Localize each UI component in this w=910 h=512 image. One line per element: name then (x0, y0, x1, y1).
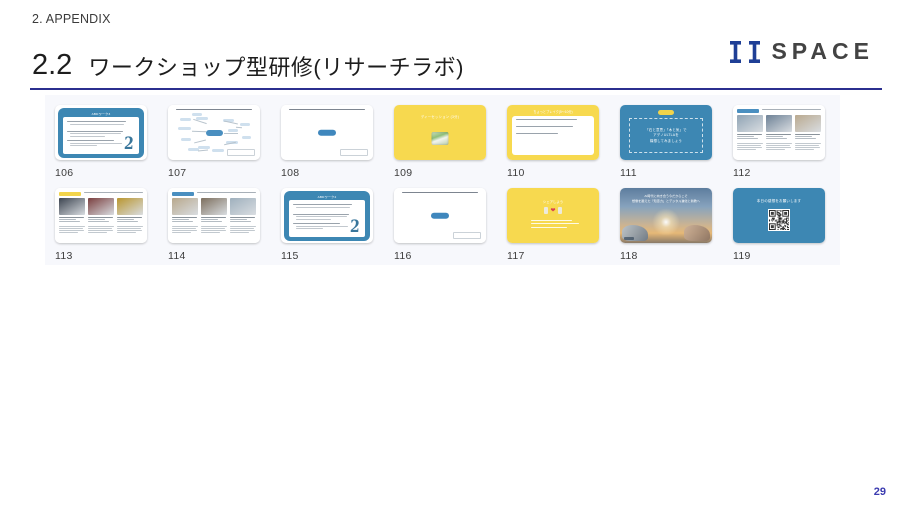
share-heart-icon: ❤ (544, 207, 562, 214)
thumbnail-cell-114[interactable]: 114 (168, 188, 260, 262)
thumbnail-cell-111[interactable]: 「石と意思」「木と気」でアデノULTLAを構想してみましょう111 (620, 105, 712, 179)
thumbnail-number: 116 (394, 250, 486, 262)
slide-thumbnail-107[interactable] (168, 105, 260, 160)
section-number: 2.2 (32, 51, 72, 80)
thumbnail-number: 118 (620, 250, 712, 262)
slide-thumbnail-119[interactable]: 本日の感想をお願いします (733, 188, 825, 243)
column-photo (766, 115, 792, 132)
mindmap-node (242, 136, 251, 139)
column-body (117, 226, 143, 235)
thumb-abd-worksheet: ABDワーク22 (281, 188, 373, 243)
thumbnail-cell-119[interactable]: 本日の感想をお願いします119 (733, 188, 825, 262)
thumbnail-grid: ABDワーク32106107108ディーセッション (3分)109ちょっとブレイ… (45, 95, 840, 265)
section-subtitle (197, 192, 256, 193)
slide-thumbnail-116[interactable] (394, 188, 486, 243)
slide-footnote (453, 232, 481, 239)
column-photo (795, 115, 821, 132)
worksheet-frame: ABDワーク32 (58, 108, 144, 158)
statement-line: 構想してみましょう (650, 139, 682, 143)
cta-pill-button[interactable] (318, 129, 336, 136)
thumbnail-number: 112 (733, 167, 825, 179)
thumb-yellow-session: ディーセッション (3分) (394, 105, 486, 160)
thumbnail-number: 107 (168, 167, 260, 179)
column-body (795, 143, 821, 152)
thumbnail-cell-115[interactable]: ABDワーク22115 (281, 188, 373, 262)
column-caption (766, 134, 792, 141)
column-body (737, 143, 763, 152)
mindmap-node (228, 129, 238, 132)
statement-line: アデノULTLAを (653, 133, 679, 137)
cosmic-tag (624, 237, 634, 240)
cta-pill-button[interactable] (431, 212, 449, 219)
thumbnail-number: 109 (394, 167, 486, 179)
worksheet-title: ABDワーク2 (284, 194, 370, 199)
survey-title: 本日の感想をお願いします (733, 199, 825, 204)
slide-footnote (340, 149, 368, 156)
mindmap-node (240, 123, 250, 126)
slide-thumbnail-115[interactable]: ABDワーク22 (281, 188, 373, 243)
session-title: ディーセッション (3分) (394, 114, 486, 119)
mindmap-connector (224, 133, 238, 134)
section-tag (172, 192, 194, 197)
photo-column (117, 198, 143, 240)
photo-column (88, 198, 114, 240)
qr-code-icon[interactable] (768, 209, 790, 231)
thumbnail-number: 110 (507, 167, 599, 179)
photo-column (230, 198, 256, 240)
thumbnail-cell-117[interactable]: シェアしよう❤117 (507, 188, 599, 262)
thumb-photo-triplet (168, 188, 260, 243)
column-photo (88, 198, 114, 215)
mindmap-node (198, 146, 210, 149)
logo-wordmark: SPACE (771, 40, 874, 63)
page-title: ワークショップ型研修(リサーチラボ) (88, 57, 464, 79)
section-label: 2. APPENDIX (32, 12, 111, 26)
column-photo (230, 198, 256, 215)
slide-thumbnail-113[interactable] (55, 188, 147, 243)
thumb-blue-statement: 「石と意思」「木と気」でアデノULTLAを構想してみましょう (620, 105, 712, 160)
worksheet-title: ABDワーク3 (58, 111, 144, 116)
human-hand-icon (684, 225, 710, 241)
worksheet-card: 2 (63, 117, 139, 154)
section-subtitle (762, 109, 821, 110)
mindmap-node (212, 149, 224, 152)
thumb-cosmic-photo: AI時代に向き合う今だからこそ想像を越えた「知恵力」とデジタル進化と新教へ (620, 188, 712, 243)
thumbnail-number: 119 (733, 250, 825, 262)
slide-thumbnail-114[interactable] (168, 188, 260, 243)
thumbnail-cell-108[interactable]: 108 (281, 105, 373, 179)
page-number: 29 (874, 486, 886, 498)
mindmap-center-node (206, 130, 223, 136)
header-divider (30, 88, 882, 90)
column-caption (795, 134, 821, 141)
slide-thumbnail-109[interactable]: ディーセッション (3分) (394, 105, 486, 160)
thumb-mindmap (168, 105, 260, 160)
mindmap-connector (198, 149, 208, 151)
thumb-share: シェアしよう❤ (507, 188, 599, 243)
thumbnail-number: 111 (620, 167, 712, 179)
thumbnail-cell-116[interactable]: 116 (394, 188, 486, 262)
thumbnail-number: 108 (281, 167, 373, 179)
session-photo (432, 132, 449, 145)
thumb-abd-worksheet: ABDワーク32 (55, 105, 147, 160)
thumb-yellow-break: ちょっとブレイク(5〜10分) (507, 105, 599, 160)
column-body (59, 226, 85, 235)
photo-columns (59, 198, 143, 240)
section-tag (737, 109, 759, 114)
thumbnail-panel: ABDワーク32106107108ディーセッション (3分)109ちょっとブレイ… (45, 95, 840, 265)
thumbnail-number: 106 (55, 167, 147, 179)
column-photo (737, 115, 763, 132)
statement-line: 「石と意思」「木と気」で (645, 128, 686, 132)
column-caption (172, 217, 198, 224)
thumbnail-number: 117 (507, 250, 599, 262)
thumb-white-button (281, 105, 373, 160)
thumbnail-cell-110[interactable]: ちょっとブレイク(5〜10分)110 (507, 105, 599, 179)
column-caption (117, 217, 143, 224)
mindmap-connector (224, 121, 238, 125)
slide-heading (402, 192, 478, 193)
column-photo (117, 198, 143, 215)
mindmap-node (192, 113, 202, 116)
thumbnail-number: 115 (281, 250, 373, 262)
column-body (172, 226, 198, 235)
photo-column (201, 198, 227, 240)
column-body (230, 226, 256, 235)
photo-column (795, 115, 821, 157)
statement-tag (658, 110, 674, 115)
worksheet-watermark: 2 (124, 136, 135, 153)
worksheet-watermark: 2 (350, 219, 361, 236)
thumbnail-number: 114 (168, 250, 260, 262)
slide-thumbnail-108[interactable] (281, 105, 373, 160)
brand-logo: SPACE (730, 40, 874, 63)
column-photo (201, 198, 227, 215)
worksheet-card: 2 (289, 200, 365, 237)
space-bracket-mark-icon (730, 41, 760, 63)
thumbnail-cell-106[interactable]: ABDワーク32106 (55, 105, 147, 179)
slide-thumbnail-111[interactable]: 「石と意思」「木と気」でアデノULTLAを構想してみましょう (620, 105, 712, 160)
column-photo (59, 198, 85, 215)
column-body (88, 226, 114, 235)
mindmap-connector (236, 127, 242, 128)
photo-column (59, 198, 85, 240)
thumb-photo-triplet (55, 188, 147, 243)
mindmap-heading (176, 109, 252, 110)
slide-thumbnail-117[interactable]: シェアしよう❤ (507, 188, 599, 243)
column-caption (230, 217, 256, 224)
slide-heading (289, 109, 365, 110)
mindmap-node (180, 118, 191, 121)
thumbnail-cell-109[interactable]: ディーセッション (3分)109 (394, 105, 486, 179)
worksheet-frame: ABDワーク22 (284, 191, 370, 241)
thumb-white-button (394, 188, 486, 243)
photo-column (172, 198, 198, 240)
section-tag (59, 192, 81, 197)
thumbnail-cell-107[interactable]: 107 (168, 105, 260, 179)
cosmic-text: AI時代に向き合う今だからこそ想像を越えた「知恵力」とデジタル進化と新教へ (620, 194, 712, 203)
mindmap-connector (194, 140, 206, 144)
photo-columns (737, 115, 821, 157)
presentation-slide: 2. APPENDIX 2.2 ワークショップ型研修(リサーチラボ) SPACE… (0, 0, 910, 512)
column-caption (88, 217, 114, 224)
break-card (512, 116, 594, 155)
thumbnail-cell-112[interactable]: 112 (733, 105, 825, 179)
thumb-photo-triplet (733, 105, 825, 160)
column-body (766, 143, 792, 152)
mindmap-node (178, 127, 191, 130)
thumbnail-cell-118[interactable]: AI時代に向き合う今だからこそ想像を越えた「知恵力」とデジタル進化と新教へ118 (620, 188, 712, 262)
column-caption (59, 217, 85, 224)
column-caption (201, 217, 227, 224)
thumb-qr-survey: 本日の感想をお願いします (733, 188, 825, 243)
slide-thumbnail-118[interactable]: AI時代に向き合う今だからこそ想像を越えた「知恵力」とデジタル進化と新教へ (620, 188, 712, 243)
mindmap-connector (192, 131, 206, 132)
thumbnail-cell-113[interactable]: 113 (55, 188, 147, 262)
photo-column (766, 115, 792, 157)
mindmap-node (181, 138, 191, 141)
slide-thumbnail-112[interactable] (733, 105, 825, 160)
thumbnail-number: 113 (55, 250, 147, 262)
slide-thumbnail-106[interactable]: ABDワーク32 (55, 105, 147, 160)
column-caption (737, 134, 763, 141)
cosmic-line: 想像を越えた「知恵力」とデジタル進化と新教へ (620, 199, 712, 204)
photo-column (737, 115, 763, 157)
photo-columns (172, 198, 256, 240)
slide-thumbnail-110[interactable]: ちょっとブレイク(5〜10分) (507, 105, 599, 160)
share-title: シェアしよう (507, 199, 599, 204)
share-bullets (531, 220, 583, 230)
mindmap-footnote (227, 149, 255, 156)
column-body (201, 226, 227, 235)
column-photo (172, 198, 198, 215)
section-subtitle (84, 192, 143, 193)
break-title: ちょっとブレイク(5〜10分) (507, 109, 599, 114)
statement-box: 「石と意思」「木と気」でアデノULTLAを構想してみましょう (629, 118, 703, 153)
